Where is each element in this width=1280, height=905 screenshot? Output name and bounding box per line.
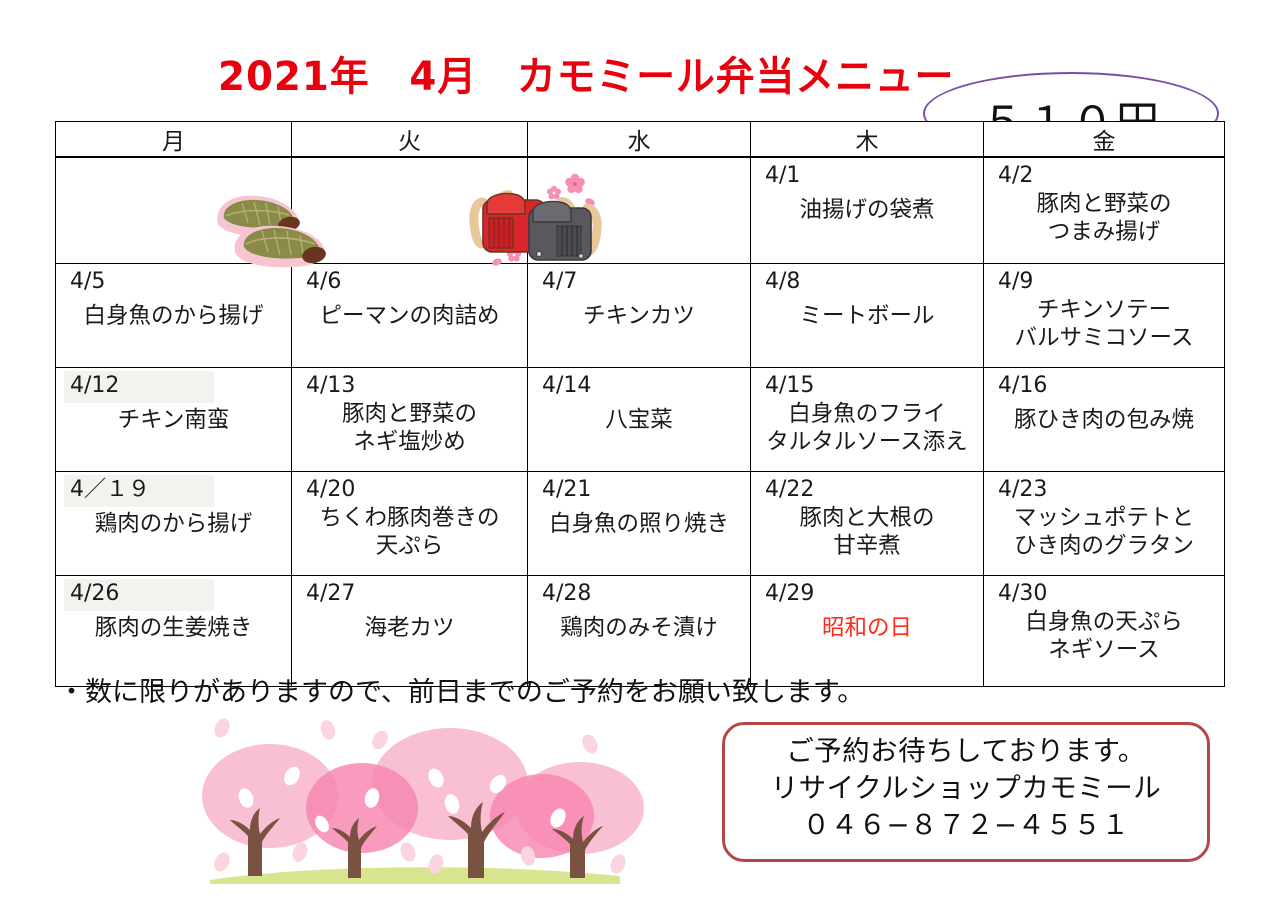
calendar-week-row: 4/5 白身魚のから揚げ 4/6 ピーマンの肉詰め 4/7 チキンカツ 4/8 … [56, 264, 1225, 368]
school-backpack-icon [457, 168, 637, 268]
cell-date: 4/15 [765, 372, 814, 400]
cell-date: 4/2 [998, 162, 1033, 190]
calendar-week-row: 4／１９ 鶏肉のから揚げ 4/20 ちくわ豚肉巻きの 天ぷら 4/21 白身魚の… [56, 472, 1225, 576]
cell-dish: 豚肉と野菜の つまみ揚げ [986, 190, 1222, 246]
calendar-cell: 4/13 豚肉と野菜の ネギ塩炒め [292, 368, 528, 472]
contact-text: ご予約お待ちしております。 リサイクルショップカモミール ０４６−８７２−４５５… [722, 733, 1210, 844]
calendar-cell: 4/20 ちくわ豚肉巻きの 天ぷら [292, 472, 528, 576]
cell-date: 4/5 [70, 268, 105, 296]
cell-dish: 豚肉の生姜焼き [58, 614, 289, 642]
cell-dish: 鶏肉のみそ漬け [530, 614, 748, 642]
calendar-cell [56, 157, 292, 264]
calendar-cell: 4/22 豚肉と大根の 甘辛煮 [751, 472, 984, 576]
cell-date: 4/20 [306, 476, 355, 504]
weekday-header-wed: 水 [528, 122, 751, 158]
cell-date: 4/6 [306, 268, 341, 296]
weekday-header-mon: 月 [56, 122, 292, 158]
cell-dish: チキンソテー バルサミコソース [986, 296, 1222, 352]
calendar-cell: 4/28 鶏肉のみそ漬け [528, 576, 751, 687]
cell-date: 4/12 [70, 372, 119, 400]
reservation-note: ・数に限りがありますので、前日までのご予約をお願い致します。 [58, 676, 864, 710]
cell-date: 4/22 [765, 476, 814, 504]
cell-dish: 豚ひき肉の包み焼 [986, 406, 1222, 434]
calendar-cell: 4/23 マッシュポテトと ひき肉のグラタン [984, 472, 1225, 576]
calendar-cell: 4/30 白身魚の天ぷら ネギソース [984, 576, 1225, 687]
calendar-cell: 4/15 白身魚のフライ タルタルソース添え [751, 368, 984, 472]
cell-dish: チキンカツ [530, 302, 748, 330]
cell-date: 4/28 [542, 580, 591, 608]
cell-dish: ミートボール [753, 302, 981, 330]
cell-date: 4/29 [765, 580, 814, 608]
cell-dish: 鶏肉のから揚げ [58, 510, 289, 538]
cell-date: 4/8 [765, 268, 800, 296]
calendar-cell: 4/12 チキン南蛮 [56, 368, 292, 472]
cell-holiday-label: 昭和の日 [753, 614, 981, 642]
calendar-cell: 4/21 白身魚の照り焼き [528, 472, 751, 576]
cell-dish: 八宝菜 [530, 406, 748, 434]
calendar-cell: 4/7 チキンカツ [528, 264, 751, 368]
calendar-cell: 4/14 八宝菜 [528, 368, 751, 472]
cell-dish: 豚肉と大根の 甘辛煮 [753, 504, 981, 560]
calendar-week-row: 4/12 チキン南蛮 4/13 豚肉と野菜の ネギ塩炒め 4/14 八宝菜 4/… [56, 368, 1225, 472]
calendar-header-row: 月 火 水 木 金 [56, 122, 1225, 158]
calendar-cell: 4／１９ 鶏肉のから揚げ [56, 472, 292, 576]
weekday-header-tue: 火 [292, 122, 528, 158]
cell-dish: 白身魚の照り焼き [530, 510, 748, 538]
cell-date: 4/26 [70, 580, 119, 608]
cell-date: 4/14 [542, 372, 591, 400]
calendar-cell: 4/29 昭和の日 [751, 576, 984, 687]
cell-dish: 白身魚のフライ タルタルソース添え [753, 400, 981, 456]
calendar-cell: 4/1 油揚げの袋煮 [751, 157, 984, 264]
sakuramochi-icon [196, 180, 356, 270]
cell-dish: ちくわ豚肉巻きの 天ぷら [294, 504, 525, 560]
calendar-cell: 4/27 海老カツ [292, 576, 528, 687]
weekday-header-thu: 木 [751, 122, 984, 158]
cell-date: 4/27 [306, 580, 355, 608]
cell-dish: 白身魚の天ぷら ネギソース [986, 608, 1222, 664]
cell-date: 4/7 [542, 268, 577, 296]
menu-calendar: 月 火 水 木 金 [55, 121, 1225, 687]
calendar-week-row: 4/26 豚肉の生姜焼き 4/27 海老カツ 4/28 鶏肉のみそ漬け 4/29… [56, 576, 1225, 687]
page-title: 2021年 4月 カモミール弁当メニュー [218, 44, 954, 102]
calendar-cell: 4/5 白身魚のから揚げ [56, 264, 292, 368]
calendar-cell: 4/8 ミートボール [751, 264, 984, 368]
cell-dish: 白身魚のから揚げ [58, 302, 289, 330]
calendar-cell: 4/16 豚ひき肉の包み焼 [984, 368, 1225, 472]
cell-date: 4／１９ [70, 476, 150, 504]
cell-date: 4/1 [765, 162, 800, 190]
calendar-cell: 4/26 豚肉の生姜焼き [56, 576, 292, 687]
cell-date: 4/23 [998, 476, 1047, 504]
cell-dish: チキン南蛮 [58, 406, 289, 434]
cherry-blossom-trees-icon [150, 716, 670, 896]
cell-date: 4/13 [306, 372, 355, 400]
cell-date: 4/16 [998, 372, 1047, 400]
calendar-cell: 4/2 豚肉と野菜の つまみ揚げ [984, 157, 1225, 264]
cell-dish: 海老カツ [294, 614, 525, 642]
calendar-cell: 4/9 チキンソテー バルサミコソース [984, 264, 1225, 368]
cell-date: 4/21 [542, 476, 591, 504]
title-row: 2021年 4月 カモミール弁当メニュー ５１０円 [0, 38, 1280, 118]
cell-date: 4/30 [998, 580, 1047, 608]
cell-dish: 豚肉と野菜の ネギ塩炒め [294, 400, 525, 456]
cell-dish: ピーマンの肉詰め [294, 302, 525, 330]
calendar-week-row: 4/1 油揚げの袋煮 4/2 豚肉と野菜の つまみ揚げ [56, 157, 1225, 264]
calendar-cell: 4/6 ピーマンの肉詰め [292, 264, 528, 368]
cell-dish: 油揚げの袋煮 [753, 196, 981, 224]
weekday-header-fri: 金 [984, 122, 1225, 158]
cell-date: 4/9 [998, 268, 1033, 296]
cell-dish: マッシュポテトと ひき肉のグラタン [986, 504, 1222, 560]
